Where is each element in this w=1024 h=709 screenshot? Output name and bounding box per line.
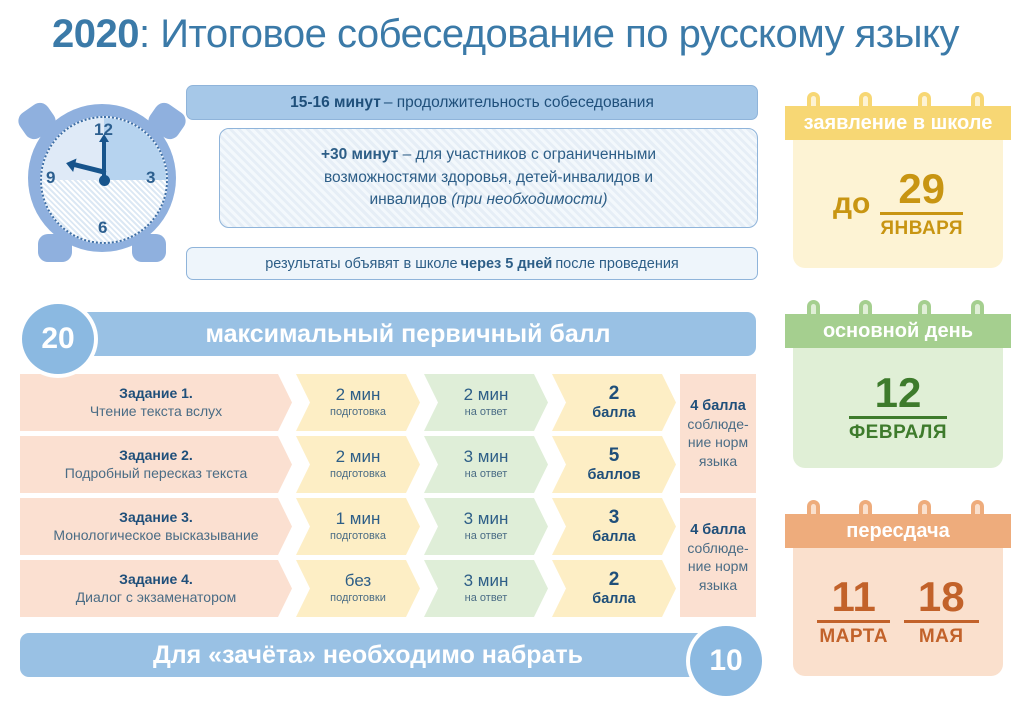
extra-time-bold: +30 минут [321,146,398,163]
clock-number-6: 6 [98,218,107,238]
answer-time-cell: 3 мин на ответ [424,436,548,493]
answer-time-label: на ответ [465,406,508,420]
points-word: балла [592,591,636,608]
pass-score-label: Для «зачёта» необходимо набрать [153,641,583,670]
max-score-badge: 20 [18,300,98,378]
task-title: Задание 3. [119,509,193,527]
calendar-month: ЯНВАРЯ [880,218,963,240]
language-norms-block: 4 балла соблюде- ние норм языка [680,374,756,493]
clock-dial: 12 3 6 9 [40,116,168,244]
duration-rest: – продолжительность собеседования [384,94,654,112]
points-cell: 2 балла [552,560,676,617]
language-norms-line2: ние норм [688,557,748,575]
calendar-day: 29 [884,168,959,212]
calendar-header: основной день [785,314,1011,348]
answer-time-cell: 3 мин на ответ [424,498,548,555]
task-cell: Задание 2. Подробный пересказ текста [20,436,292,493]
points-cell: 5 баллов [552,436,676,493]
calendar-day: 18 [904,576,979,620]
tasks-table: Задание 1. Чтение текста вслух 2 мин под… [20,374,756,618]
task-cell: Задание 1. Чтение текста вслух [20,374,292,431]
answer-time-label: на ответ [465,592,508,606]
prep-time-value: 2 мин [336,385,381,405]
table-row: Задание 4. Диалог с экзаменатором без по… [20,560,756,617]
calendar-header: заявление в школе [785,106,1011,140]
calendar-body: 12 ФЕВРАЛЯ [793,348,1003,468]
duration-bold: 15-16 минут [290,94,381,112]
pass-score-value: 10 [709,644,742,678]
prep-time-cell: без подготовки [296,560,420,617]
table-row: Задание 1. Чтение текста вслух 2 мин под… [20,374,756,431]
points-number: 3 [609,507,620,529]
extra-time-line3-italic: (при необходимости) [451,191,607,208]
language-norms-line3: языка [699,576,737,594]
language-norms-block: 4 балла соблюде- ние норм языка [680,498,756,617]
calendar-header: пересдача [785,514,1011,548]
table-row: Задание 2. Подробный пересказ текста 2 м… [20,436,756,493]
results-box: результаты объявят в школе через 5 дней … [186,247,758,280]
extra-time-line3-pre: инвалидов [369,191,451,208]
answer-time-label: на ответ [465,468,508,482]
language-norms-line1: соблюде- [687,415,748,433]
points-word: балла [592,405,636,422]
points-word: баллов [587,467,640,484]
extra-time-box: +30 минут – для участников с ограниченны… [219,128,758,228]
answer-time-value: 3 мин [464,509,509,529]
prep-time-label: подготовки [330,592,386,606]
prep-time-cell: 2 мин подготовка [296,374,420,431]
clock-center-pin [99,175,110,186]
language-norms-line2: ние норм [688,433,748,451]
prep-time-cell: 1 мин подготовка [296,498,420,555]
results-post: после проведения [555,256,678,272]
calendar-rule [904,620,979,623]
task-subtitle: Подробный пересказ текста [65,464,247,482]
task-title: Задание 1. [119,385,193,403]
calendar-date: 18 МАЯ [904,576,979,648]
calendar-body: до 29 ЯНВАРЯ [793,140,1003,268]
answer-time-label: на ответ [465,530,508,544]
results-bold: через 5 дней [461,256,553,272]
language-norms-title: 4 балла [690,397,746,415]
answer-time-value: 3 мин [464,571,509,591]
extra-time-line-2: возможностями здоровья, детей-инвалидов … [324,167,653,189]
calendar-day: 11 [817,576,889,620]
prep-time-value: 2 мин [336,447,381,467]
infographic-page: 2020: Итоговое собеседование по русскому… [0,0,1024,709]
clock-number-9: 9 [46,168,55,188]
calendar-day: 12 [861,372,936,416]
points-cell: 2 балла [552,374,676,431]
task-subtitle: Диалог с экзаменатором [76,588,237,606]
answer-time-value: 2 мин [464,385,509,405]
alarm-clock-icon: 12 3 6 9 [14,96,190,276]
language-norms-line3: языка [699,452,737,470]
task-cell: Задание 3. Монологическое высказывание [20,498,292,555]
prep-time-value: 1 мин [336,509,381,529]
calendar-prefix: до [833,187,870,221]
clock-number-3: 3 [146,168,155,188]
calendar-body: 11 МАРТА 18 МАЯ [793,548,1003,676]
results-pre: результаты объявят в школе [265,256,457,272]
task-title: Задание 4. [119,571,193,589]
clock-quadrant-top-right [104,118,166,180]
pass-score-badge: 10 [686,622,766,700]
prep-time-label: подготовка [330,530,386,544]
prep-time-cell: 2 мин подготовка [296,436,420,493]
calendar-date: 29 ЯНВАРЯ [880,168,963,240]
page-title: 2020: Итоговое собеседование по русскому… [52,12,1002,62]
language-norms-title: 4 балла [690,521,746,539]
answer-time-value: 3 мин [464,447,509,467]
task-subtitle: Чтение текста вслух [90,402,222,420]
calendar-rule [817,620,889,623]
extra-time-line-3: инвалидов (при необходимости) [369,189,607,211]
calendar-month: ФЕВРАЛЯ [849,422,947,444]
max-score-label: максимальный первичный балл [205,320,610,349]
extra-time-line-1: +30 минут – для участников с ограниченны… [321,144,656,166]
max-score-banner: максимальный первичный балл [60,312,756,356]
task-subtitle: Монологическое высказывание [53,526,258,544]
prep-time-label: подготовка [330,406,386,420]
pass-score-banner: Для «зачёта» необходимо набрать [20,633,716,677]
prep-time-value: без [345,571,371,591]
title-year: 2020 [52,12,139,56]
title-rest: : Итоговое собеседование по русскому язы… [139,12,959,56]
task-cell: Задание 4. Диалог с экзаменатором [20,560,292,617]
points-word: балла [592,529,636,546]
max-score-value: 20 [41,322,74,356]
calendar-rule [849,416,947,419]
language-norms-line1: соблюде- [687,539,748,557]
points-number: 5 [609,445,620,467]
calendar-date: 11 МАРТА [817,576,889,648]
task-title: Задание 2. [119,447,193,465]
duration-box: 15-16 минут – продолжительность собеседо… [186,85,758,120]
points-number: 2 [609,383,620,405]
points-number: 2 [609,569,620,591]
answer-time-cell: 3 мин на ответ [424,560,548,617]
prep-time-label: подготовка [330,468,386,482]
calendar-month: МАРТА [819,626,888,648]
calendar-month: МАЯ [919,626,964,648]
table-row: Задание 3. Монологическое высказывание 1… [20,498,756,555]
extra-time-line1-rest: – для участников с ограниченными [403,146,656,163]
calendar-rule [880,212,963,215]
answer-time-cell: 2 мин на ответ [424,374,548,431]
points-cell: 3 балла [552,498,676,555]
calendar-date: 12 ФЕВРАЛЯ [849,372,947,444]
